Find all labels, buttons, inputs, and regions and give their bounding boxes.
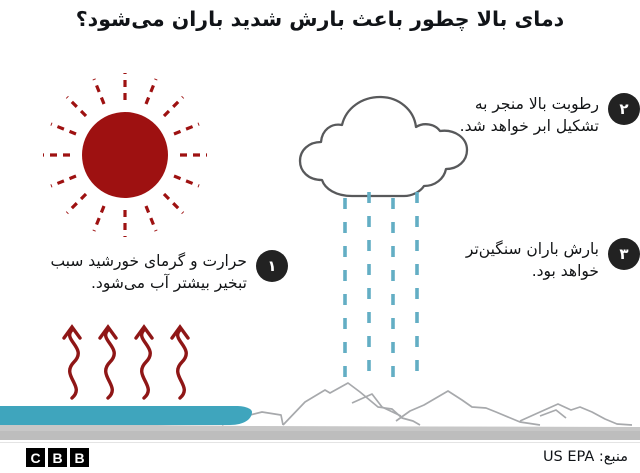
callout-3-badge: ۳ xyxy=(608,238,640,270)
callout-1-text: حرارت و گرمای خورشید سبب تبخیر بیشتر آب … xyxy=(27,250,247,294)
ground-band xyxy=(0,424,640,440)
callout-2: ۲ رطوبت بالا منجر به تشکیل ابر خواهد شد. xyxy=(428,93,640,137)
callout-1: ۱ حرارت و گرمای خورشید سبب تبخیر بیشتر آ… xyxy=(20,250,288,294)
bbc-logo-b1: B xyxy=(70,448,89,467)
illustration-scene xyxy=(0,0,640,473)
footer: B B C منبع: US EPA xyxy=(0,443,640,473)
bbc-logo-c: C xyxy=(26,448,45,467)
sun-icon xyxy=(43,73,207,237)
mountain-range-icon xyxy=(222,383,632,425)
evaporation-arrows-icon xyxy=(64,327,188,398)
water-body-icon xyxy=(0,406,252,425)
callout-3-text: بارش باران سنگین‌تر خواهد بود. xyxy=(437,238,599,282)
callout-2-text: رطوبت بالا منجر به تشکیل ابر خواهد شد. xyxy=(437,93,599,137)
bbc-logo: B B C xyxy=(26,448,89,467)
infographic-page: دمای بالا چطور باعث بارش شدید باران می‌ش… xyxy=(0,0,640,473)
bbc-logo-b2: B xyxy=(48,448,67,467)
callout-3: ۳ بارش باران سنگین‌تر خواهد بود. xyxy=(428,238,640,282)
callout-2-badge: ۲ xyxy=(608,93,640,125)
rain-icon xyxy=(345,192,417,382)
callout-1-badge: ۱ xyxy=(256,250,288,282)
source-credit: منبع: US EPA xyxy=(543,449,628,465)
